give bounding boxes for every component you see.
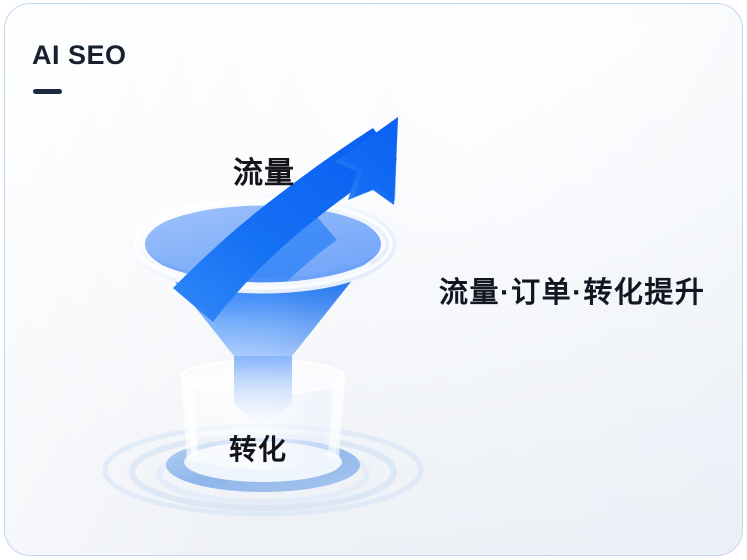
- label-conversion: 转化: [229, 436, 287, 464]
- page-title: AI SEO: [32, 42, 127, 69]
- headline-text: 流量·订单·转化提升: [439, 279, 705, 308]
- glass-cup-icon: [166, 360, 360, 492]
- title-underline-rule: [33, 89, 62, 94]
- growth-arrow-icon: [173, 117, 398, 322]
- funnel-stem-icon: [234, 334, 292, 428]
- label-traffic: 流量: [233, 159, 295, 189]
- funnel-icon: [135, 200, 391, 356]
- content-card: AI SEO 流量 转化 流量·订单·转化提升: [4, 3, 743, 556]
- screenshot-canvas: AI SEO 流量 转化 流量·订单·转化提升: [0, 0, 747, 560]
